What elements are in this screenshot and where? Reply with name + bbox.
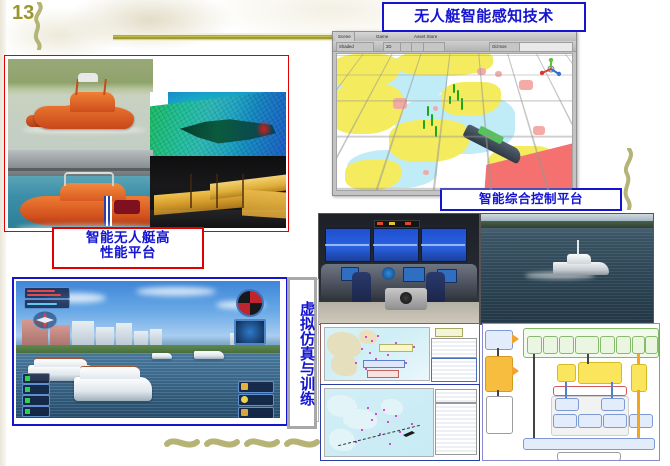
scene-vegetation [427, 106, 429, 116]
hud-radar-display [234, 319, 266, 345]
scene-marker-plane [519, 80, 533, 90]
chart-annotation-tag [379, 344, 413, 352]
chart-annotation-tag [367, 370, 399, 378]
architecture-panel [482, 323, 660, 461]
scene-marker-plane [495, 71, 502, 77]
hud-heading-compass [236, 289, 264, 317]
usv-moored-photo [8, 150, 153, 228]
harbour-vessel [152, 353, 172, 359]
bridge-simulator-photo [318, 213, 480, 325]
caption-title: 无人艇智能感知技术 [382, 2, 586, 32]
ecdis-data-table [431, 338, 477, 358]
chart-annotation-tag [363, 360, 405, 368]
caption-vr-training: 虚拟仿真与训练 [287, 277, 317, 429]
scene-vegetation [431, 114, 433, 126]
scene-vegetation [457, 90, 459, 101]
arch-connector [533, 354, 535, 438]
scene-marker-plane [477, 68, 486, 75]
arch-block-depth-control [616, 336, 631, 354]
scene-land-mass [389, 120, 469, 162]
unity-gizmos-dropdown[interactable]: Gizmos [489, 42, 521, 52]
scene-vegetation [423, 120, 425, 129]
arch-block-heading-control [543, 336, 558, 354]
arch-flow-arrow [512, 334, 519, 344]
slide-number: 13 [12, 2, 34, 25]
usv-photo-panel [4, 55, 289, 232]
harbour-sim-panel [12, 277, 288, 426]
ecdis-chart-view [324, 327, 430, 381]
unity-scene-panel[interactable]: Scene Game Asset Store Shaded 2D Gizmos [332, 31, 577, 196]
ecdis-panel-top [320, 323, 480, 385]
usv-underway-photo [8, 59, 153, 150]
unity-tab-scene[interactable]: Scene [335, 32, 355, 41]
hud-compass-rose-icon [32, 309, 58, 331]
ecdis-header-table [435, 389, 477, 403]
scene-marker-plane [533, 126, 545, 135]
arch-block-actuator-layer [523, 438, 655, 450]
arch-block-propulsion-module [603, 414, 627, 428]
arch-block-sensor-fusion [485, 356, 513, 392]
arch-block-mode-select [631, 364, 647, 392]
scene-axis-gizmo[interactable] [540, 58, 562, 80]
harbour-vessel [194, 351, 224, 359]
arch-connector [611, 382, 613, 398]
scene-marker-plane [423, 170, 429, 175]
bridge-alarm-panel [374, 220, 420, 228]
bridge-display [403, 267, 425, 282]
scene-vegetation [453, 84, 455, 93]
bridge-operator-chair [352, 272, 371, 302]
caption-control-platform: 智能综合控制平台 [440, 188, 622, 211]
hud-status-panel [24, 299, 70, 309]
arch-block-attitude-control [559, 336, 574, 354]
hud-tool-gauge [238, 394, 274, 406]
unity-search-input[interactable] [519, 42, 573, 52]
scene-land-mass [345, 160, 401, 190]
arch-connector [565, 382, 567, 398]
scene-vegetation [461, 98, 463, 110]
hull-structure-photo [150, 156, 286, 228]
arch-block-aux-equipment [629, 414, 653, 428]
arch-block-rudder-module [578, 414, 602, 428]
ecdis-toolbar-button[interactable] [435, 328, 463, 337]
arch-block-interface [485, 330, 513, 350]
slide-canvas: 13 [0, 0, 670, 466]
arch-block-ballast-module [553, 414, 577, 428]
arch-block-heading-module [555, 398, 579, 411]
bottom-wave-decoration [163, 432, 323, 452]
ecdis-data-table [431, 358, 477, 382]
unity-tab-asset-store[interactable]: Asset Store [411, 32, 440, 41]
bridge-helm-pedestal [385, 288, 427, 310]
hud-status-panel [24, 287, 70, 299]
arch-block-avoidance-control [600, 336, 615, 354]
ecdis-data-table [435, 403, 477, 455]
arch-block-autonomous-nav [575, 336, 599, 354]
arch-block-echart-module [578, 362, 622, 384]
caption-usv-line2: 性能平台 [100, 245, 156, 261]
harbour-vessel [74, 377, 152, 401]
harbour-simulation-view [16, 281, 280, 418]
hud-tool-gauge [238, 381, 274, 393]
hud-gauge [22, 384, 50, 395]
arch-block-speed-control [527, 336, 542, 354]
unity-scene-viewport[interactable] [336, 53, 573, 191]
arch-connector [637, 354, 640, 364]
arch-connector [637, 390, 640, 438]
caption-usv-platform: 智能无人艇高 性能平台 [52, 227, 204, 269]
ecdis-panel-bottom [320, 384, 480, 461]
arch-block-usv-platform [557, 452, 621, 461]
arch-block-power-control [632, 336, 645, 354]
arch-block-sensor-interface [486, 396, 513, 434]
scene-vegetation [435, 126, 437, 137]
hud-gauge [22, 406, 50, 417]
scene-marker-plane [393, 98, 407, 109]
cfd-mesh-photo [150, 92, 286, 156]
hud-gauge [22, 373, 50, 384]
unity-tab-game[interactable]: Game [373, 32, 391, 41]
scene-marker-plane [433, 106, 438, 111]
arch-connector [587, 354, 589, 364]
bridge-radar-display [382, 267, 395, 280]
unity-effects-dropdown[interactable] [423, 42, 445, 52]
unity-shading-dropdown[interactable]: Shaded [336, 42, 374, 52]
ecdis-chart-view [324, 388, 434, 457]
arch-block-general-control [645, 336, 658, 354]
patrol-boat-photo [480, 213, 654, 325]
scene-vegetation [449, 96, 451, 104]
hud-tool-gauge [238, 407, 274, 418]
unity-toolbar[interactable]: Shaded 2D Gizmos [333, 41, 576, 52]
vessel-marker-icon [403, 429, 415, 437]
arch-connector [497, 390, 499, 396]
hud-gauge [22, 395, 50, 406]
arch-connector [497, 348, 499, 356]
arch-flow-arrow [512, 366, 519, 376]
arch-block-path-control-module [557, 364, 576, 382]
arch-block-attitude-module [601, 398, 625, 411]
bridge-operator-chair [426, 272, 445, 302]
